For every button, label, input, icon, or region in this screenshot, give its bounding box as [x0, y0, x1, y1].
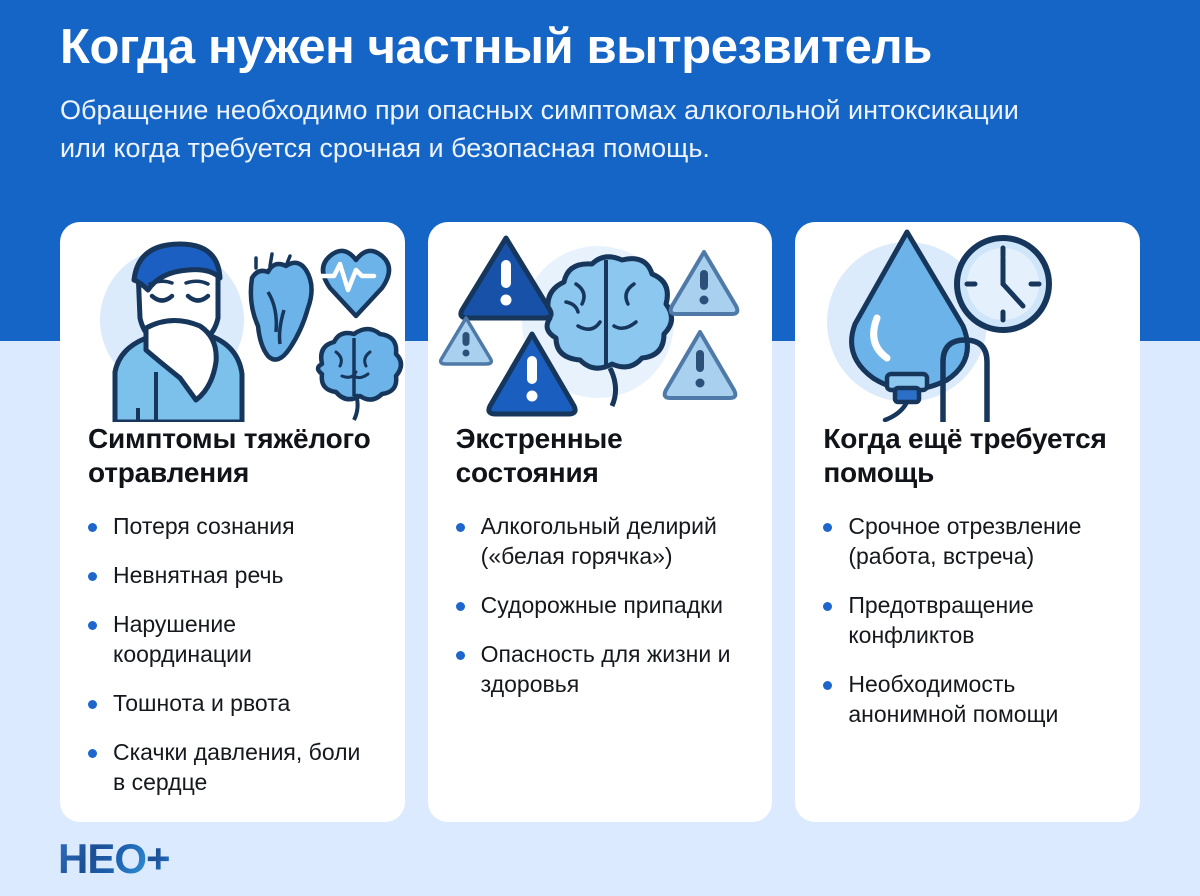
list-item: Потеря сознания	[88, 512, 379, 542]
list-item: Тошнота и рвота	[88, 689, 379, 719]
card-emergency-conditions[interactable]: Экстренные состояния Алкогольный делирий…	[428, 222, 773, 822]
severe-poisoning-art	[60, 222, 405, 422]
card-other-help-cases[interactable]: Когда ещё требуется помощь Срочное отрез…	[795, 222, 1140, 822]
brand-logo: НЕО+	[58, 838, 170, 880]
card-illustration-severe-poisoning	[60, 222, 405, 422]
card-title: Когда ещё требуется помощь	[823, 422, 1114, 490]
bullet-list: Потеря сознания Невнятная речь Нарушение…	[88, 512, 379, 797]
list-item: Алкогольный делирий («белая горячка»)	[456, 512, 747, 572]
list-item: Судорожные припадки	[456, 591, 747, 621]
card-title: Экстренные состояния	[456, 422, 747, 490]
anatomical-heart-icon	[251, 254, 312, 360]
card-severe-poisoning[interactable]: Симптомы тяжёлого отравления Потеря созн…	[60, 222, 405, 822]
bullet-list: Срочное отрезвление (работа, встреча) Пр…	[823, 512, 1114, 729]
card-illustration-emergency-conditions	[428, 222, 773, 422]
card-body: Экстренные состояния Алкогольный делирий…	[428, 422, 773, 718]
heart-pulse-icon	[322, 251, 389, 316]
card-title: Симптомы тяжёлого отравления	[88, 422, 379, 490]
list-item: Скачки давления, боли в сердце	[88, 738, 379, 798]
header: Когда нужен частный вытрезвитель Обращен…	[0, 0, 1200, 168]
other-help-art	[795, 222, 1140, 422]
brain-icon	[318, 329, 401, 420]
cards-row: Симптомы тяжёлого отравления Потеря созн…	[60, 222, 1140, 822]
list-item: Срочное отрезвление (работа, встреча)	[823, 512, 1114, 572]
brand-logo-text: НЕО	[58, 838, 146, 880]
list-item: Нарушение координации	[88, 610, 379, 670]
page-subtitle: Обращение необходимо при опасных симптом…	[60, 91, 1060, 168]
card-body: Симптомы тяжёлого отравления Потеря созн…	[60, 422, 405, 816]
list-item: Невнятная речь	[88, 561, 379, 591]
card-body: Когда ещё требуется помощь Срочное отрез…	[795, 422, 1140, 748]
list-item: Предотвращение конфликтов	[823, 591, 1114, 651]
list-item: Необходимость анонимной помощи	[823, 670, 1114, 730]
bullet-list: Алкогольный делирий («белая горячка») Су…	[456, 512, 747, 699]
clock-icon	[957, 238, 1049, 330]
warning-triangle-icon	[664, 332, 735, 398]
warning-triangle-icon	[440, 318, 491, 364]
warning-triangle-icon	[670, 252, 737, 314]
emergency-conditions-art	[428, 222, 773, 422]
page-title: Когда нужен частный вытрезвитель	[60, 20, 1140, 75]
card-illustration-other-help-cases	[795, 222, 1140, 422]
list-item: Опасность для жизни и здоровья	[456, 640, 747, 700]
brand-logo-plus-icon: +	[146, 838, 170, 880]
